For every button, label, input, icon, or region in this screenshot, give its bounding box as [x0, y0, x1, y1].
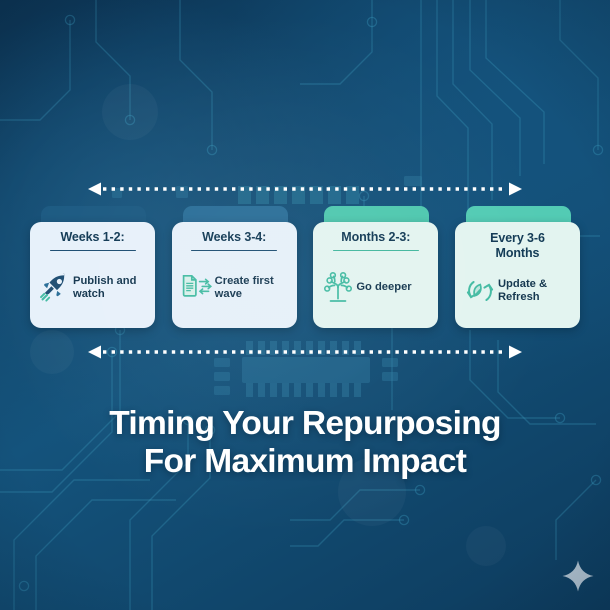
vignette-overlay — [0, 0, 610, 610]
infographic-canvas: Weeks 1-2: — [0, 0, 610, 610]
